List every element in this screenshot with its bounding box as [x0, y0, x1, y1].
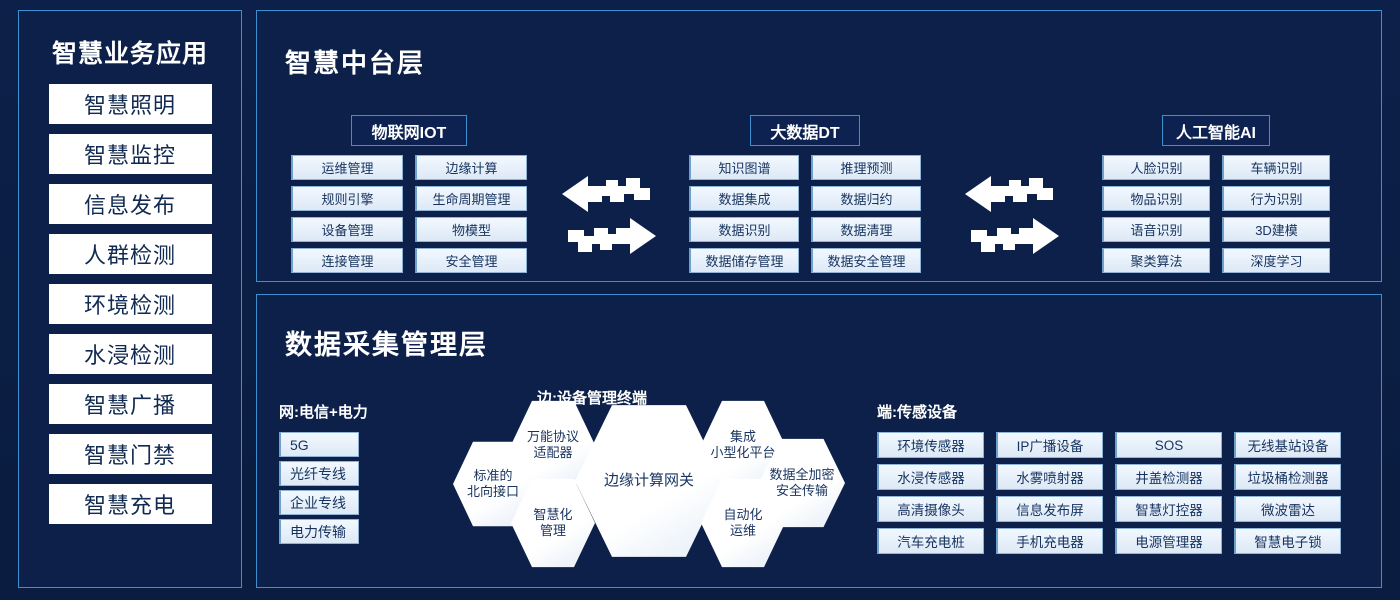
group-bigdata: 大数据DT 知识图谱 数据集成 数据识别 数据储存管理 推理预测 数据归约 数据… [689, 115, 921, 273]
chip-sensor-smart-electronic-lock[interactable]: 智慧电子锁 [1234, 528, 1341, 554]
sensor-column-4: 无线基站设备 垃圾桶检测器 微波雷达 智慧电子锁 [1234, 432, 1341, 554]
chip-iot-edge-computing[interactable]: 边缘计算 [415, 155, 527, 180]
group-bigdata-column-1: 知识图谱 数据集成 数据识别 数据储存管理 [689, 155, 799, 273]
group-ai-column-1: 人脸识别 物品识别 语音识别 聚类算法 [1102, 155, 1210, 273]
sidebar-item-smart-charging[interactable]: 智慧充电 [49, 484, 212, 524]
chip-sensor-wireless-base-station[interactable]: 无线基站设备 [1234, 432, 1341, 458]
sensor-section: 端:传感设备 环境传感器 水浸传感器 高清摄像头 汽车充电桩 IP广播设备 水雾… [877, 401, 1341, 554]
hexagon-line-2: 北向接口 [467, 484, 519, 500]
chip-dt-data-cleaning[interactable]: 数据清理 [811, 217, 921, 242]
chip-iot-ops-management[interactable]: 运维管理 [291, 155, 403, 180]
group-iot-column-2: 边缘计算 生命周期管理 物模型 安全管理 [415, 155, 527, 273]
chip-ai-clustering-algorithm[interactable]: 聚类算法 [1102, 248, 1210, 273]
hexagon-line-2: 运维 [723, 523, 762, 539]
chip-sensor-water-mist-sprayer[interactable]: 水雾喷射器 [996, 464, 1103, 490]
chip-ai-3d-modeling[interactable]: 3D建模 [1222, 217, 1330, 242]
chip-iot-lifecycle-management[interactable]: 生命周期管理 [415, 186, 527, 211]
group-bigdata-header: 大数据DT [750, 115, 860, 146]
chip-sensor-trash-bin-detector[interactable]: 垃圾桶检测器 [1234, 464, 1341, 490]
sidebar-item-smart-monitoring[interactable]: 智慧监控 [49, 134, 212, 174]
chip-sensor-smart-light-controller[interactable]: 智慧灯控器 [1115, 496, 1222, 522]
sidebar-item-smart-access-control[interactable]: 智慧门禁 [49, 434, 212, 474]
hexagon-line-1: 标准的 [467, 468, 519, 484]
hexagon-line-1: 万能协议 [527, 429, 579, 445]
bottom-panel-title: 数据采集管理层 [285, 323, 488, 362]
hexagon-line-2: 管理 [533, 523, 572, 539]
hexagon-line-1: 自动化 [723, 507, 762, 523]
network-section-label: 网:电信+电力 [279, 401, 368, 422]
chip-iot-device-management[interactable]: 设备管理 [291, 217, 403, 242]
glitch-arrow-pair-left-icon [562, 174, 656, 256]
sidebar-item-environment-detection[interactable]: 环境检测 [49, 284, 212, 324]
chip-sensor-water-immersion-sensor[interactable]: 水浸传感器 [877, 464, 984, 490]
sidebar-panel: 智慧业务应用 智慧照明 智慧监控 信息发布 人群检测 环境检测 水浸检测 智慧广… [18, 10, 242, 588]
chip-sensor-hd-camera[interactable]: 高清摄像头 [877, 496, 984, 522]
chip-dt-data-reduction[interactable]: 数据归约 [811, 186, 921, 211]
chip-ai-vehicle-recognition[interactable]: 车辆识别 [1222, 155, 1330, 180]
group-ai-header: 人工智能AI [1162, 115, 1270, 146]
hexagon-line-2: 小型化平台 [710, 445, 775, 461]
sidebar-title: 智慧业务应用 [19, 34, 241, 70]
group-ai-column-2: 车辆识别 行为识别 3D建模 深度学习 [1222, 155, 1330, 273]
chip-sensor-manhole-cover-detector[interactable]: 井盖检测器 [1115, 464, 1222, 490]
group-iot-chips: 运维管理 规则引擎 设备管理 连接管理 边缘计算 生命周期管理 物模型 安全管理 [291, 155, 527, 273]
hexagon-line-1: 智慧化 [533, 507, 572, 523]
hexagon-line-1: 集成 [710, 429, 775, 445]
sensor-grid: 环境传感器 水浸传感器 高清摄像头 汽车充电桩 IP广播设备 水雾喷射器 信息发… [877, 432, 1341, 554]
chip-sensor-ip-broadcast-device[interactable]: IP广播设备 [996, 432, 1103, 458]
chip-iot-security-management[interactable]: 安全管理 [415, 248, 527, 273]
chip-sensor-info-display-screen[interactable]: 信息发布屏 [996, 496, 1103, 522]
chip-dt-data-storage-management[interactable]: 数据储存管理 [689, 248, 799, 273]
chip-dt-inference-prediction[interactable]: 推理预测 [811, 155, 921, 180]
sidebar-item-smart-broadcast[interactable]: 智慧广播 [49, 384, 212, 424]
chip-sensor-sos[interactable]: SOS [1115, 432, 1222, 458]
chip-iot-connection-management[interactable]: 连接管理 [291, 248, 403, 273]
chip-ai-voice-recognition[interactable]: 语音识别 [1102, 217, 1210, 242]
hexagon-line-1: 数据全加密 [769, 467, 834, 483]
diagram-root: 智慧业务应用 智慧照明 智慧监控 信息发布 人群检测 环境检测 水浸检测 智慧广… [0, 0, 1400, 600]
chip-sensor-power-manager[interactable]: 电源管理器 [1115, 528, 1222, 554]
middle-panel-title: 智慧中台层 [285, 43, 425, 80]
sidebar-item-info-publishing[interactable]: 信息发布 [49, 184, 212, 224]
sidebar-item-crowd-detection[interactable]: 人群检测 [49, 234, 212, 274]
chip-sensor-microwave-radar[interactable]: 微波雷达 [1234, 496, 1341, 522]
chip-ai-behavior-recognition[interactable]: 行为识别 [1222, 186, 1330, 211]
data-collection-panel: 数据采集管理层 网:电信+电力 5G 光纤专线 企业专线 电力传输 边:设备管理… [256, 294, 1382, 588]
sidebar-item-water-immersion-detection[interactable]: 水浸检测 [49, 334, 212, 374]
group-iot-header: 物联网IOT [351, 115, 467, 146]
sensor-column-3: SOS 井盖检测器 智慧灯控器 电源管理器 [1115, 432, 1222, 554]
group-ai: 人工智能AI 人脸识别 物品识别 语音识别 聚类算法 车辆识别 行为识别 3D建… [1102, 115, 1330, 273]
chip-network-power-transmission[interactable]: 电力传输 [279, 519, 359, 544]
group-bigdata-column-2: 推理预测 数据归约 数据清理 数据安全管理 [811, 155, 921, 273]
chip-sensor-ev-charging-pile[interactable]: 汽车充电桩 [877, 528, 984, 554]
edge-hexagon-cluster: 边:设备管理终端 标准的 北向接口 万能协议 适配器 智慧化 管理 [453, 387, 813, 562]
hexagon-line-1: 边缘计算网关 [604, 472, 694, 490]
chip-ai-deep-learning[interactable]: 深度学习 [1222, 248, 1330, 273]
chip-sensor-mobile-phone-charger[interactable]: 手机充电器 [996, 528, 1103, 554]
glitch-arrow-pair-right-icon [965, 174, 1059, 256]
sensor-column-2: IP广播设备 水雾喷射器 信息发布屏 手机充电器 [996, 432, 1103, 554]
chip-network-enterprise-line[interactable]: 企业专线 [279, 490, 359, 515]
hexagon-line-2: 安全传输 [769, 483, 834, 499]
group-iot-column-1: 运维管理 规则引擎 设备管理 连接管理 [291, 155, 403, 273]
sidebar-item-smart-lighting[interactable]: 智慧照明 [49, 84, 212, 124]
chip-dt-data-recognition[interactable]: 数据识别 [689, 217, 799, 242]
chip-network-5g[interactable]: 5G [279, 432, 359, 457]
sensor-column-1: 环境传感器 水浸传感器 高清摄像头 汽车充电桩 [877, 432, 984, 554]
chip-dt-data-security-management[interactable]: 数据安全管理 [811, 248, 921, 273]
group-bigdata-chips: 知识图谱 数据集成 数据识别 数据储存管理 推理预测 数据归约 数据清理 数据安… [689, 155, 921, 273]
chip-iot-rule-engine[interactable]: 规则引擎 [291, 186, 403, 211]
chip-ai-object-recognition[interactable]: 物品识别 [1102, 186, 1210, 211]
chip-dt-knowledge-graph[interactable]: 知识图谱 [689, 155, 799, 180]
chip-dt-data-integration[interactable]: 数据集成 [689, 186, 799, 211]
sensor-section-label: 端:传感设备 [877, 401, 1341, 422]
hexagon-edge-computing-gateway[interactable]: 边缘计算网关 [575, 402, 723, 560]
chip-network-fiber-line[interactable]: 光纤专线 [279, 461, 359, 486]
sidebar-list: 智慧照明 智慧监控 信息发布 人群检测 环境检测 水浸检测 智慧广播 智慧门禁 … [19, 84, 241, 524]
chip-iot-thing-model[interactable]: 物模型 [415, 217, 527, 242]
group-ai-chips: 人脸识别 物品识别 语音识别 聚类算法 车辆识别 行为识别 3D建模 深度学习 [1102, 155, 1330, 273]
chip-sensor-environment-sensor[interactable]: 环境传感器 [877, 432, 984, 458]
chip-ai-face-recognition[interactable]: 人脸识别 [1102, 155, 1210, 180]
network-section: 网:电信+电力 5G 光纤专线 企业专线 电力传输 [279, 401, 368, 548]
middle-platform-panel: 智慧中台层 物联网IOT 运维管理 规则引擎 设备管理 连接管理 边缘计算 生命… [256, 10, 1382, 282]
group-iot: 物联网IOT 运维管理 规则引擎 设备管理 连接管理 边缘计算 生命周期管理 物… [291, 115, 527, 273]
hexagon-line-2: 适配器 [527, 445, 579, 461]
